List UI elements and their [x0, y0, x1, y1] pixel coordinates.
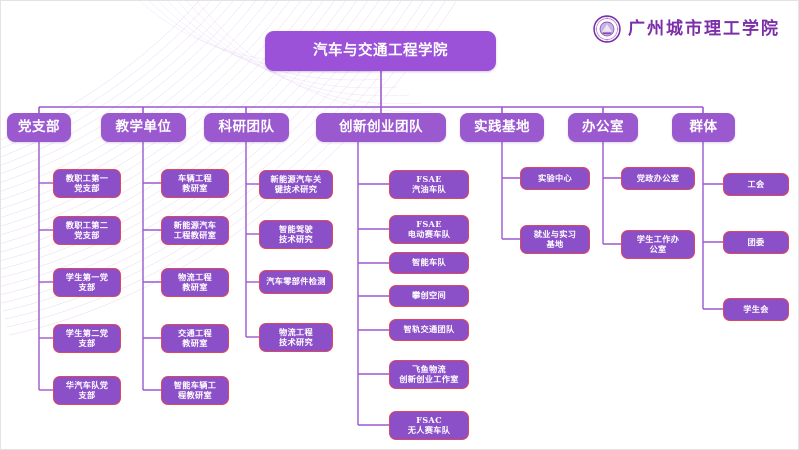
leaf-line-2: 创新创业工作室	[399, 375, 458, 384]
org-node-party-branch[interactable]: 党支部	[7, 113, 71, 142]
leaf-line-2: 教研室	[182, 339, 207, 348]
leaf-line-2: 键技术研究	[275, 185, 317, 194]
leaf-node[interactable]: 团委	[723, 231, 789, 254]
leaf-node[interactable]: 攀创空间	[389, 285, 469, 307]
leaf-line-2: 支部	[79, 283, 96, 292]
org-node-label: 办公室	[582, 120, 624, 136]
leaf-node[interactable]: 智能车辆工 程教研室	[161, 376, 229, 405]
leaf-line-2: 党支部	[74, 231, 99, 240]
org-node-root[interactable]: 汽车与交通工程学院	[265, 31, 496, 71]
leaf-line-1: 汽车零部件检测	[266, 277, 325, 286]
leaf-node[interactable]: 新能源汽车关 键技术研究	[259, 170, 333, 199]
leaf-line-1: 工会	[748, 180, 765, 189]
leaf-node[interactable]: 新能源汽车 工程教研室	[161, 216, 229, 245]
university-logo: 广州城市理工学院	[593, 15, 780, 43]
leaf-node[interactable]: 实验中心	[520, 167, 590, 190]
org-node-organizations[interactable]: 群体	[672, 113, 735, 142]
leaf-node[interactable]: 物流工程 技术研究	[259, 323, 333, 352]
org-node-teaching-units[interactable]: 教学单位	[101, 113, 186, 142]
org-node-research-teams[interactable]: 科研团队	[204, 113, 289, 142]
university-name: 广州城市理工学院	[628, 21, 780, 38]
leaf-line-2: 教研室	[182, 184, 207, 193]
leaf-line-2: 汽油车队	[412, 185, 446, 194]
leaf-line-1: 智轨交通团队	[404, 325, 455, 334]
leaf-node[interactable]: 物流工程 教研室	[161, 268, 229, 297]
org-node-root-label: 汽车与交通工程学院	[313, 43, 448, 60]
leaf-line-2: 公室	[650, 245, 667, 254]
leaf-line-1: 攀创空间	[412, 291, 446, 300]
org-node-offices[interactable]: 办公室	[568, 113, 638, 142]
leaf-node[interactable]: 飞鱼物流 创新创业工作室	[389, 360, 469, 389]
leaf-node[interactable]: 交通工程 教研室	[161, 324, 229, 353]
org-node-label: 教学单位	[116, 120, 172, 136]
leaf-line-1: 党政办公室	[637, 174, 679, 183]
org-node-label: 党支部	[18, 120, 60, 136]
leaf-line-2: 技术研究	[279, 235, 313, 244]
leaf-node[interactable]: 党政办公室	[621, 167, 695, 190]
leaf-line-1: 学生会	[743, 305, 768, 314]
leaf-line-2: 电动赛车队	[408, 230, 450, 239]
university-seal-icon	[593, 15, 621, 43]
leaf-node[interactable]: 学生会	[723, 298, 789, 321]
leaf-node[interactable]: FSAE 电动赛车队	[389, 215, 469, 244]
org-node-label: 科研团队	[219, 120, 275, 136]
leaf-node[interactable]: 教职工第一 党支部	[53, 169, 121, 198]
org-node-label: 群体	[690, 120, 718, 136]
leaf-line-1: 团委	[748, 238, 765, 247]
org-node-label: 实践基地	[474, 120, 530, 136]
leaf-node[interactable]: 智能驾驶 技术研究	[259, 220, 333, 249]
leaf-node[interactable]: 华汽车队党 支部	[53, 376, 121, 405]
leaf-line-2: 基地	[547, 240, 564, 249]
leaf-node[interactable]: 学生第二党 支部	[53, 324, 121, 353]
leaf-node[interactable]: 工会	[723, 173, 789, 196]
org-node-label: 创新创业团队	[339, 120, 423, 136]
leaf-node[interactable]: 学生第一党 支部	[53, 268, 121, 297]
leaf-node[interactable]: 智能车队	[389, 252, 469, 274]
leaf-line-2: 党支部	[74, 184, 99, 193]
leaf-line-2: 程教研室	[178, 391, 212, 400]
leaf-node[interactable]: 教职工第二 党支部	[53, 216, 121, 245]
leaf-line-1: 实验中心	[538, 174, 572, 183]
leaf-line-2: 无人赛车队	[408, 426, 450, 435]
leaf-node[interactable]: FSAE 汽油车队	[389, 170, 469, 199]
leaf-line-2: 教研室	[182, 283, 207, 292]
leaf-node[interactable]: 学生工作办 公室	[621, 230, 695, 259]
leaf-node[interactable]: 汽车零部件检测	[259, 270, 333, 294]
org-node-practice-bases[interactable]: 实践基地	[460, 113, 544, 142]
org-chart-page: 广州城市理工学院 汽车与交通工程学院 党支部 教学单位 科研团队 创新创业团队 …	[0, 0, 799, 450]
leaf-node[interactable]: 车辆工程 教研室	[161, 169, 229, 198]
leaf-node[interactable]: 智轨交通团队	[389, 319, 469, 341]
leaf-line-2: 支部	[79, 391, 96, 400]
leaf-line-1: 智能车队	[412, 258, 446, 267]
leaf-node[interactable]: FSAC 无人赛车队	[389, 411, 469, 440]
leaf-line-2: 工程教研室	[174, 231, 216, 240]
org-node-innovation-teams[interactable]: 创新创业团队	[316, 113, 446, 142]
leaf-line-2: 技术研究	[279, 338, 313, 347]
leaf-node[interactable]: 就业与实习 基地	[520, 225, 590, 254]
leaf-line-2: 支部	[79, 339, 96, 348]
